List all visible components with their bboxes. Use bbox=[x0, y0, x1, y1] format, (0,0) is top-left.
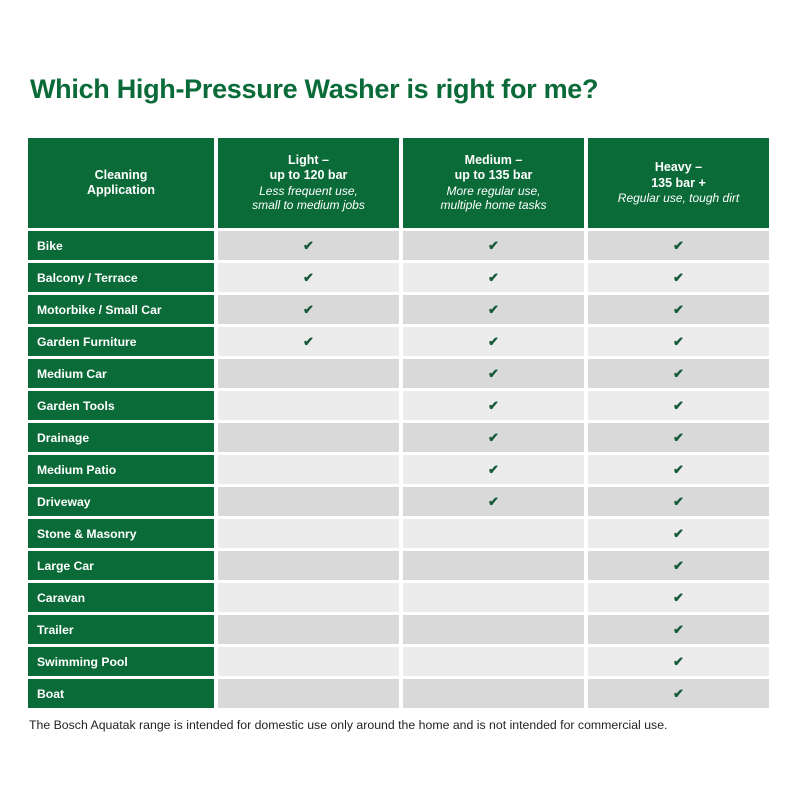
cell-light: ✔ bbox=[218, 327, 399, 356]
cell-light: ✔ bbox=[218, 519, 399, 548]
cell-medium: ✔ bbox=[403, 519, 584, 548]
cell-heavy: ✔ bbox=[588, 487, 769, 516]
check-icon: ✔ bbox=[303, 271, 314, 284]
table-row: Large Car✔✔✔ bbox=[28, 551, 775, 580]
table-row: Balcony / Terrace✔✔✔ bbox=[28, 263, 775, 292]
cell-heavy: ✔ bbox=[588, 551, 769, 580]
check-icon: ✔ bbox=[673, 527, 684, 540]
check-icon: ✔ bbox=[673, 687, 684, 700]
check-icon: ✔ bbox=[488, 303, 499, 316]
column-header-application: Cleaning Application bbox=[28, 138, 214, 228]
cell-light: ✔ bbox=[218, 615, 399, 644]
check-icon: ✔ bbox=[488, 399, 499, 412]
cell-medium: ✔ bbox=[403, 455, 584, 484]
cell-heavy: ✔ bbox=[588, 615, 769, 644]
cell-heavy: ✔ bbox=[588, 263, 769, 292]
cell-medium: ✔ bbox=[403, 359, 584, 388]
cell-heavy: ✔ bbox=[588, 359, 769, 388]
table-row: Motorbike / Small Car✔✔✔ bbox=[28, 295, 775, 324]
row-label-stone-masonry: Stone & Masonry bbox=[28, 519, 214, 548]
column-header-medium-line2: up to 135 bar bbox=[455, 168, 533, 183]
check-icon: ✔ bbox=[673, 271, 684, 284]
column-header-light-sub1: Less frequent use, bbox=[259, 184, 358, 199]
cell-light: ✔ bbox=[218, 455, 399, 484]
table-row: Caravan✔✔✔ bbox=[28, 583, 775, 612]
check-icon: ✔ bbox=[303, 335, 314, 348]
row-label-balcony-terrace: Balcony / Terrace bbox=[28, 263, 214, 292]
column-header-application-line1: Cleaning bbox=[95, 168, 148, 183]
cell-medium: ✔ bbox=[403, 423, 584, 452]
cell-light: ✔ bbox=[218, 583, 399, 612]
cell-medium: ✔ bbox=[403, 583, 584, 612]
check-icon: ✔ bbox=[673, 591, 684, 604]
cell-medium: ✔ bbox=[403, 391, 584, 420]
cell-heavy: ✔ bbox=[588, 679, 769, 708]
row-label-garden-furniture: Garden Furniture bbox=[28, 327, 214, 356]
table-row: Boat✔✔✔ bbox=[28, 679, 775, 708]
check-icon: ✔ bbox=[488, 463, 499, 476]
cell-heavy: ✔ bbox=[588, 583, 769, 612]
table-row: Trailer✔✔✔ bbox=[28, 615, 775, 644]
check-icon: ✔ bbox=[488, 335, 499, 348]
table-row: Bike✔✔✔ bbox=[28, 231, 775, 260]
check-icon: ✔ bbox=[673, 367, 684, 380]
cell-medium: ✔ bbox=[403, 263, 584, 292]
check-icon: ✔ bbox=[488, 239, 499, 252]
cell-light: ✔ bbox=[218, 679, 399, 708]
column-header-medium-sub1: More regular use, bbox=[446, 184, 540, 199]
cell-heavy: ✔ bbox=[588, 327, 769, 356]
check-icon: ✔ bbox=[488, 495, 499, 508]
cell-light: ✔ bbox=[218, 359, 399, 388]
table-body: Bike✔✔✔Balcony / Terrace✔✔✔Motorbike / S… bbox=[28, 231, 775, 708]
row-label-medium-car: Medium Car bbox=[28, 359, 214, 388]
cell-heavy: ✔ bbox=[588, 647, 769, 676]
column-header-medium-line1: Medium – bbox=[465, 153, 523, 168]
row-label-large-car: Large Car bbox=[28, 551, 214, 580]
cell-medium: ✔ bbox=[403, 615, 584, 644]
column-header-light: Light – up to 120 bar Less frequent use,… bbox=[218, 138, 399, 228]
column-header-light-line2: up to 120 bar bbox=[270, 168, 348, 183]
row-label-medium-patio: Medium Patio bbox=[28, 455, 214, 484]
cell-medium: ✔ bbox=[403, 551, 584, 580]
cell-heavy: ✔ bbox=[588, 295, 769, 324]
table-row: Drainage✔✔✔ bbox=[28, 423, 775, 452]
column-header-medium-sub2: multiple home tasks bbox=[440, 198, 546, 213]
check-icon: ✔ bbox=[488, 431, 499, 444]
check-icon: ✔ bbox=[673, 399, 684, 412]
washer-comparison-table: Cleaning Application Light – up to 120 b… bbox=[28, 138, 775, 711]
cell-light: ✔ bbox=[218, 487, 399, 516]
check-icon: ✔ bbox=[303, 303, 314, 316]
check-icon: ✔ bbox=[673, 239, 684, 252]
cell-light: ✔ bbox=[218, 391, 399, 420]
column-header-heavy-line2: 135 bar + bbox=[651, 176, 706, 191]
table-row: Medium Car✔✔✔ bbox=[28, 359, 775, 388]
cell-light: ✔ bbox=[218, 551, 399, 580]
comparison-table-page: Which High-Pressure Washer is right for … bbox=[0, 0, 800, 800]
cell-medium: ✔ bbox=[403, 679, 584, 708]
check-icon: ✔ bbox=[673, 303, 684, 316]
row-label-caravan: Caravan bbox=[28, 583, 214, 612]
check-icon: ✔ bbox=[673, 431, 684, 444]
cell-heavy: ✔ bbox=[588, 455, 769, 484]
cell-light: ✔ bbox=[218, 263, 399, 292]
column-header-heavy-line1: Heavy – bbox=[655, 160, 702, 175]
check-icon: ✔ bbox=[673, 495, 684, 508]
table-row: Swimming Pool✔✔✔ bbox=[28, 647, 775, 676]
row-label-driveway: Driveway bbox=[28, 487, 214, 516]
table-row: Garden Tools✔✔✔ bbox=[28, 391, 775, 420]
cell-medium: ✔ bbox=[403, 231, 584, 260]
table-row: Driveway✔✔✔ bbox=[28, 487, 775, 516]
check-icon: ✔ bbox=[673, 463, 684, 476]
check-icon: ✔ bbox=[673, 559, 684, 572]
cell-heavy: ✔ bbox=[588, 231, 769, 260]
row-label-motorbike-small-car: Motorbike / Small Car bbox=[28, 295, 214, 324]
table-footnote: The Bosch Aquatak range is intended for … bbox=[29, 718, 667, 732]
page-title: Which High-Pressure Washer is right for … bbox=[30, 74, 598, 105]
row-label-trailer: Trailer bbox=[28, 615, 214, 644]
table-row: Medium Patio✔✔✔ bbox=[28, 455, 775, 484]
table-header-row: Cleaning Application Light – up to 120 b… bbox=[28, 138, 775, 228]
cell-heavy: ✔ bbox=[588, 391, 769, 420]
table-row: Stone & Masonry✔✔✔ bbox=[28, 519, 775, 548]
cell-light: ✔ bbox=[218, 231, 399, 260]
column-header-heavy-sub1: Regular use, tough dirt bbox=[618, 191, 739, 206]
row-label-bike: Bike bbox=[28, 231, 214, 260]
column-header-light-line1: Light – bbox=[288, 153, 329, 168]
check-icon: ✔ bbox=[673, 335, 684, 348]
row-label-garden-tools: Garden Tools bbox=[28, 391, 214, 420]
cell-light: ✔ bbox=[218, 647, 399, 676]
cell-medium: ✔ bbox=[403, 295, 584, 324]
check-icon: ✔ bbox=[303, 239, 314, 252]
cell-medium: ✔ bbox=[403, 487, 584, 516]
column-header-light-sub2: small to medium jobs bbox=[252, 198, 365, 213]
row-label-drainage: Drainage bbox=[28, 423, 214, 452]
cell-light: ✔ bbox=[218, 295, 399, 324]
row-label-swimming-pool: Swimming Pool bbox=[28, 647, 214, 676]
cell-heavy: ✔ bbox=[588, 423, 769, 452]
check-icon: ✔ bbox=[673, 623, 684, 636]
column-header-heavy: Heavy – 135 bar + Regular use, tough dir… bbox=[588, 138, 769, 228]
column-header-medium: Medium – up to 135 bar More regular use,… bbox=[403, 138, 584, 228]
cell-medium: ✔ bbox=[403, 647, 584, 676]
table-row: Garden Furniture✔✔✔ bbox=[28, 327, 775, 356]
cell-light: ✔ bbox=[218, 423, 399, 452]
column-header-application-line2: Application bbox=[87, 183, 155, 198]
row-label-boat: Boat bbox=[28, 679, 214, 708]
check-icon: ✔ bbox=[488, 367, 499, 380]
cell-medium: ✔ bbox=[403, 327, 584, 356]
check-icon: ✔ bbox=[488, 271, 499, 284]
cell-heavy: ✔ bbox=[588, 519, 769, 548]
check-icon: ✔ bbox=[673, 655, 684, 668]
